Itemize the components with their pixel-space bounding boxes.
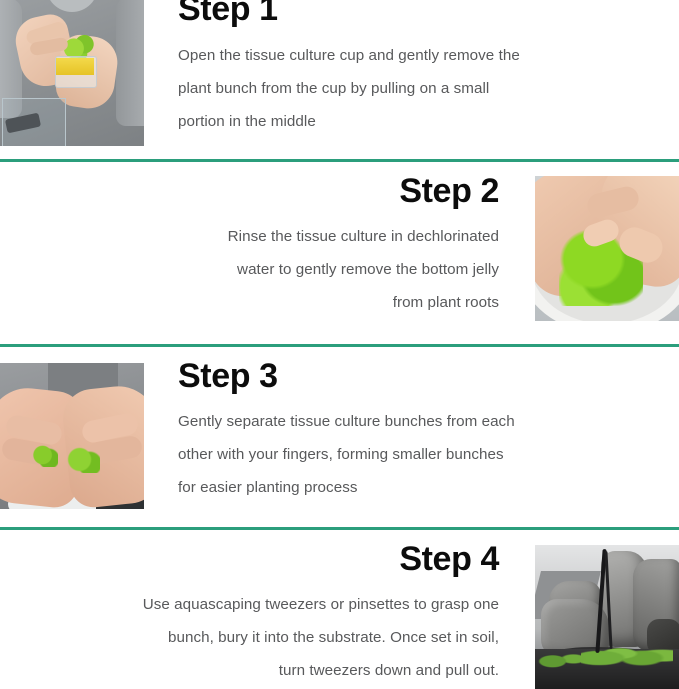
step-2-text-column: Step 2 Rinse the tissue culture in dechl… bbox=[0, 162, 535, 319]
step-1-title: Step 1 bbox=[178, 0, 679, 28]
photo-scene-separating-bunches bbox=[0, 363, 144, 509]
step-1-photo bbox=[0, 0, 144, 146]
photo-scene-rinsing-plant bbox=[535, 176, 679, 321]
step-block-2: Step 2 Rinse the tissue culture in dechl… bbox=[0, 162, 679, 344]
instruction-steps-page: Step 1 Open the tissue culture cup and g… bbox=[0, 0, 679, 683]
step-3-body: Gently separate tissue culture bunches f… bbox=[178, 405, 618, 504]
step-3-text-column: Step 3 Gently separate tissue culture bu… bbox=[144, 347, 679, 504]
step-4-title: Step 4 bbox=[0, 540, 499, 578]
step-block-1: Step 1 Open the tissue culture cup and g… bbox=[0, 0, 679, 159]
step-3-body-line-2: other with your fingers, forming smaller… bbox=[178, 438, 618, 471]
step-1-body: Open the tissue culture cup and gently r… bbox=[178, 39, 630, 138]
step-2-photo bbox=[535, 176, 679, 321]
step-4-text-column: Step 4 Use aquascaping tweezers or pinse… bbox=[0, 530, 535, 687]
step-2-title: Step 2 bbox=[0, 172, 499, 210]
step-3-photo bbox=[0, 363, 144, 509]
step-4-body-line-1: Use aquascaping tweezers or pinsettes to… bbox=[143, 588, 499, 621]
step-block-4: Step 4 Use aquascaping tweezers or pinse… bbox=[0, 530, 679, 689]
step-4-photo bbox=[535, 545, 679, 689]
step-1-body-line-2: plant bunch from the cup by pulling on a… bbox=[178, 72, 630, 105]
step-2-body-line-3: from plant roots bbox=[228, 286, 499, 319]
photo-scene-aquascape-rocks bbox=[535, 545, 679, 689]
step-2-body: Rinse the tissue culture in dechlorinate… bbox=[228, 220, 499, 319]
step-3-body-line-3: for easier planting process bbox=[178, 471, 618, 504]
step-block-3: Step 3 Gently separate tissue culture bu… bbox=[0, 347, 679, 527]
step-4-body-line-3: turn tweezers down and pull out. bbox=[143, 654, 499, 687]
photo-scene-holding-cup bbox=[0, 0, 144, 146]
step-2-body-line-1: Rinse the tissue culture in dechlorinate… bbox=[228, 220, 499, 253]
step-1-text-column: Step 1 Open the tissue culture cup and g… bbox=[144, 0, 679, 138]
step-2-body-line-2: water to gently remove the bottom jelly bbox=[228, 253, 499, 286]
step-1-body-line-1: Open the tissue culture cup and gently r… bbox=[178, 39, 630, 72]
step-1-body-line-3: portion in the middle bbox=[178, 105, 630, 138]
step-3-title: Step 3 bbox=[178, 357, 679, 395]
step-3-body-line-1: Gently separate tissue culture bunches f… bbox=[178, 405, 618, 438]
step-4-body: Use aquascaping tweezers or pinsettes to… bbox=[143, 588, 499, 687]
step-4-body-line-2: bunch, bury it into the substrate. Once … bbox=[143, 621, 499, 654]
